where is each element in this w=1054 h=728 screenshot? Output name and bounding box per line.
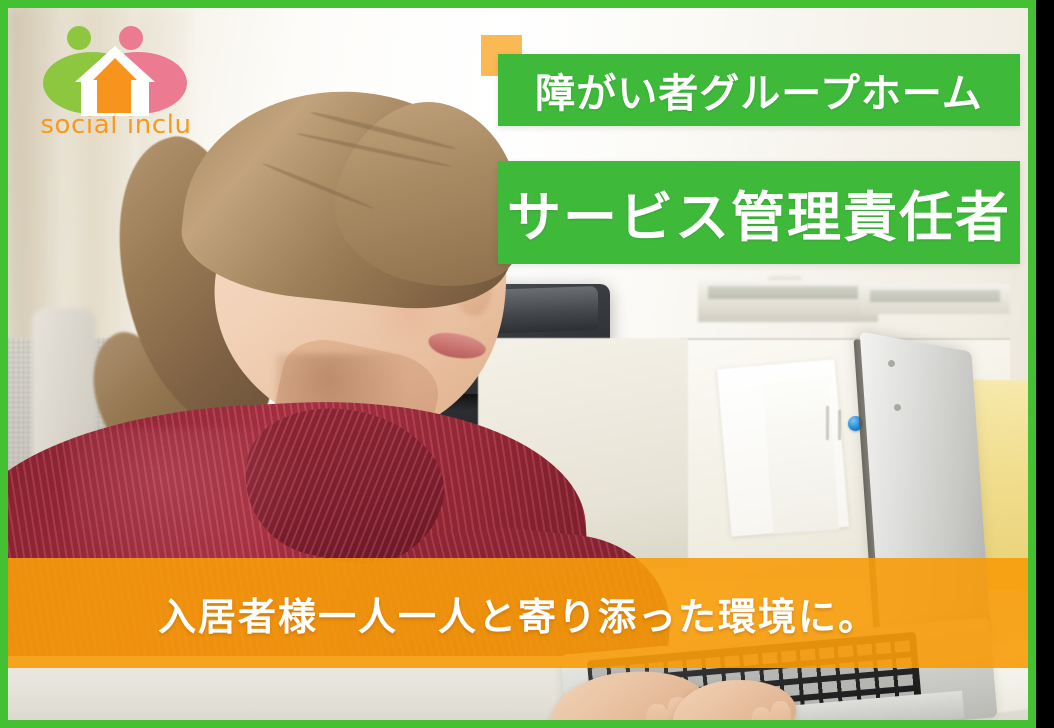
upper-shelf-right-shadow <box>870 290 1000 302</box>
recruitment-banner: social inclu 障がい者グループホーム サービス管理責任者 入居者様一… <box>0 0 1036 728</box>
logo-house-body-orange <box>97 79 131 113</box>
hero-photo: social inclu 障がい者グループホーム サービス管理責任者 入居者様一… <box>8 8 1028 720</box>
strapline-banner: 入居者様一人一人と寄り添った環境に。 <box>8 558 1028 668</box>
finger-4 <box>752 707 772 720</box>
laptop-hinge-dot-bottom <box>894 404 901 411</box>
logo-house-roof-orange <box>93 58 137 80</box>
two-people-with-house-icon <box>41 24 191 106</box>
finger-5 <box>770 700 793 720</box>
strapline-label: 入居者様一人一人と寄り添った環境に。 <box>158 586 878 641</box>
upper-shelf-left-shadow <box>708 286 858 299</box>
headline-banner-secondary-label: サービス管理責任者 <box>507 173 1011 252</box>
whiteboard-mark-3 <box>826 406 829 440</box>
headline-banner-secondary: サービス管理責任者 <box>498 161 1020 264</box>
pinned-paper-secondary <box>763 378 839 534</box>
finger-1 <box>646 704 668 720</box>
green-frame-border: social inclu 障がい者グループホーム サービス管理責任者 入居者様一… <box>0 0 1036 728</box>
headline-banner-primary: 障がい者グループホーム <box>498 54 1020 126</box>
headline-banner-primary-label: 障がい者グループホーム <box>535 61 982 119</box>
brand-logo[interactable]: social inclu <box>30 24 202 142</box>
laptop-hinge-dot-top <box>888 360 895 367</box>
whiteboard-mark-4 <box>838 410 841 440</box>
